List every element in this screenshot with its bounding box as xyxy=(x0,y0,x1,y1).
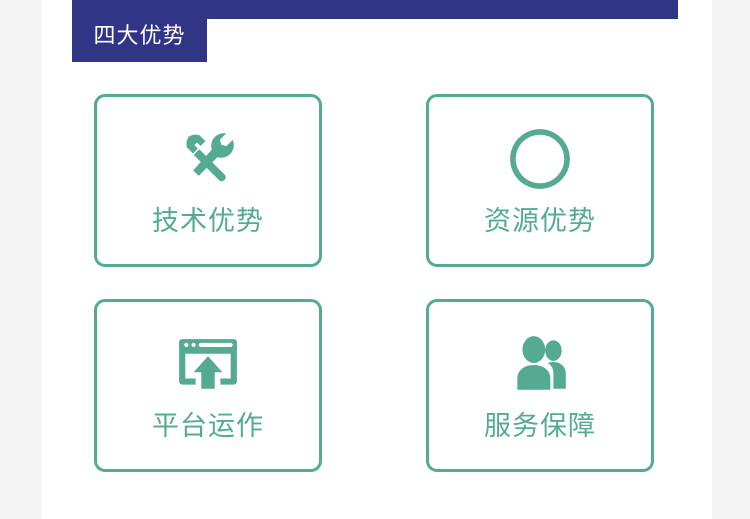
advantage-card-label: 服务保障 xyxy=(484,413,596,440)
browser-upload-icon xyxy=(175,331,241,397)
advantages-grid: 技术优势 资源优势 xyxy=(94,94,654,474)
advantage-card-service[interactable]: 服务保障 xyxy=(426,299,654,472)
advantage-card-label: 平台运作 xyxy=(152,413,264,440)
advantage-card-label: 技术优势 xyxy=(152,208,264,235)
hammer-wrench-icon xyxy=(175,126,241,192)
page-root: 四大优势 技术优势 xyxy=(0,0,750,519)
advantage-card-technology[interactable]: 技术优势 xyxy=(94,94,322,267)
users-icon xyxy=(507,331,573,397)
globe-icon xyxy=(507,126,573,192)
content-panel: 四大优势 技术优势 xyxy=(41,0,712,519)
section-title-text: 四大优势 xyxy=(93,25,185,47)
advantage-card-platform[interactable]: 平台运作 xyxy=(94,299,322,472)
advantage-card-label: 资源优势 xyxy=(484,208,596,235)
advantage-card-resource[interactable]: 资源优势 xyxy=(426,94,654,267)
section-title-tab: 四大优势 xyxy=(72,9,207,62)
